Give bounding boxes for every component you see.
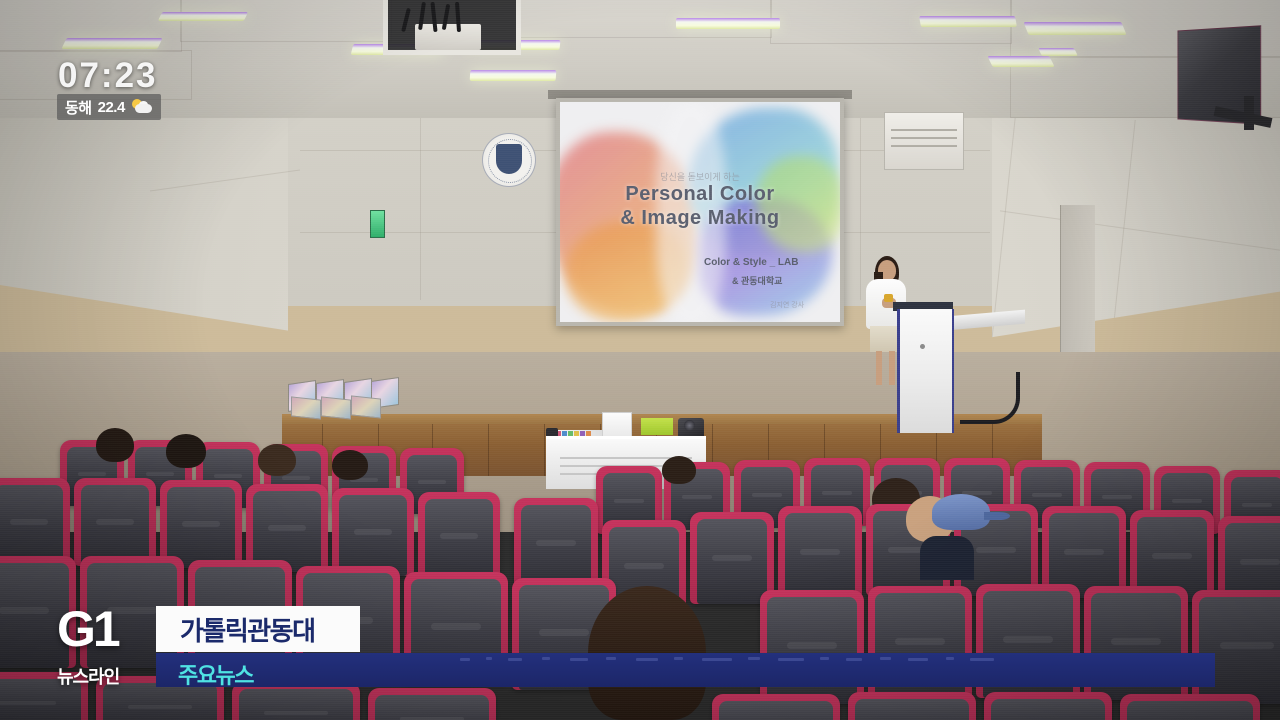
slide-title-line2: & Image Making	[560, 207, 840, 230]
news-category-label: 주요뉴스	[178, 658, 253, 690]
ceiling-light	[61, 38, 162, 49]
headline-box: 가톨릭관동대	[156, 606, 360, 652]
auditorium-seat	[984, 692, 1112, 720]
slide-kicker: 당신을 돋보이게 하는	[560, 170, 840, 183]
sun-behind-cloud-icon	[131, 99, 153, 115]
green-folder	[641, 418, 673, 435]
projection-screen: 당신을 돋보이게 하는 Personal Color & Image Makin…	[556, 98, 844, 326]
cap-brim-icon	[984, 512, 1010, 520]
ceiling-light	[1038, 48, 1078, 56]
audience-body	[920, 536, 974, 580]
auditorium-seat	[418, 492, 500, 580]
auditorium-seat	[160, 480, 242, 568]
program-name: 뉴스라인	[57, 663, 119, 689]
broadcast-frame: 당신을 돋보이게 하는 Personal Color & Image Makin…	[0, 0, 1280, 720]
auditorium-seat	[712, 694, 840, 720]
audience-head	[96, 428, 134, 462]
slide-org-line2: & 관동대학교	[732, 274, 782, 287]
auditorium-seat	[368, 688, 496, 720]
color-sample-board	[351, 395, 381, 418]
microphone-icon	[884, 294, 893, 302]
lectern	[897, 309, 954, 433]
auditorium-seat	[246, 484, 328, 572]
auditorium-seat	[1120, 694, 1260, 720]
ceiling-light	[676, 18, 780, 29]
air-conditioner	[884, 112, 964, 170]
slide-org-line1: Color & Style _ LAB	[704, 257, 798, 268]
auditorium-seat	[332, 488, 414, 576]
channel-logo: G1	[57, 604, 118, 654]
weather-widget: 동해 22.4	[57, 94, 161, 120]
ceiling-light	[987, 56, 1054, 67]
ceiling-light	[470, 70, 557, 81]
ceiling-light	[1023, 22, 1126, 35]
auditorium-seat	[690, 512, 774, 604]
headline-text: 가톨릭관동대	[156, 611, 315, 648]
university-crest-icon	[482, 133, 536, 187]
audience-head	[258, 444, 296, 476]
audience-head	[332, 450, 368, 480]
projector-icon	[415, 24, 481, 50]
camera-lens-icon	[684, 420, 695, 431]
color-sample-board	[321, 396, 351, 419]
auditorium-seat	[778, 506, 862, 598]
weather-city: 동해	[65, 97, 92, 118]
auditorium-seat	[74, 478, 156, 566]
weather-temperature: 22.4	[98, 99, 125, 116]
auditorium-seat	[848, 692, 976, 720]
auditorium-seat	[514, 498, 598, 588]
ceiling-light	[919, 16, 1017, 27]
auditorium-seat	[0, 478, 70, 566]
audience-head	[166, 434, 206, 468]
color-sample-board	[291, 396, 321, 419]
slide-credit: 김지연 강사	[770, 300, 804, 310]
baseball-cap-icon	[932, 494, 990, 530]
podium-cable	[960, 372, 1020, 424]
ceiling-light	[158, 12, 248, 21]
slide-title-line1: Personal Color	[560, 183, 840, 206]
speaker-bracket	[1244, 96, 1254, 130]
audience-head	[662, 456, 696, 484]
on-screen-clock: 07:23	[58, 56, 158, 96]
exit-sign-icon	[370, 210, 385, 238]
side-door	[1060, 205, 1095, 355]
ticker-strip	[460, 656, 1020, 668]
